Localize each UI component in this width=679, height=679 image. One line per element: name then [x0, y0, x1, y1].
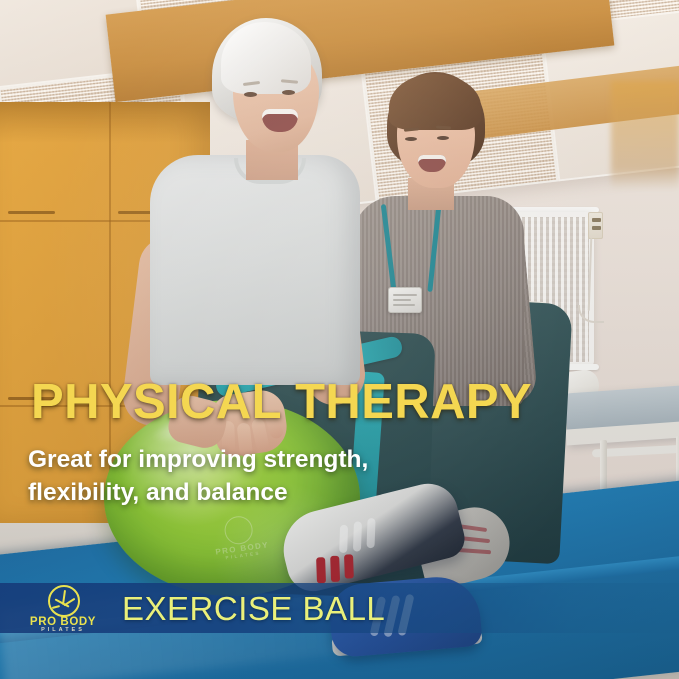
senior-eye [244, 92, 257, 97]
product-name: EXERCISE BALL [122, 590, 385, 628]
senior-eye [282, 90, 295, 95]
senior-tshirt [150, 155, 360, 385]
subheadline-line-1: Great for improving strength, [28, 444, 458, 477]
brand-logo: PRO BODY PILATES [22, 585, 104, 631]
photo-scene: PRO BODY PILATES [0, 0, 679, 679]
subheadline-line-2: flexibility, and balance [28, 477, 458, 510]
pilates-figure-circle-icon [48, 585, 80, 617]
therapist-eye [437, 136, 449, 140]
ball-logo-ring-icon [223, 514, 255, 546]
subheadline: Great for improving strength, flexibilit… [28, 444, 458, 509]
brand-tagline: PILATES [22, 627, 104, 633]
page-title: PHYSICAL THERAPY [31, 378, 532, 427]
cabinet-top-shadow [0, 102, 210, 143]
therapist-eye [405, 137, 417, 141]
id-badge [388, 287, 422, 313]
wall-outlet [588, 212, 603, 239]
product-image: PRO BODY PILATES [0, 0, 679, 679]
wall-cabinet-right [611, 81, 679, 190]
